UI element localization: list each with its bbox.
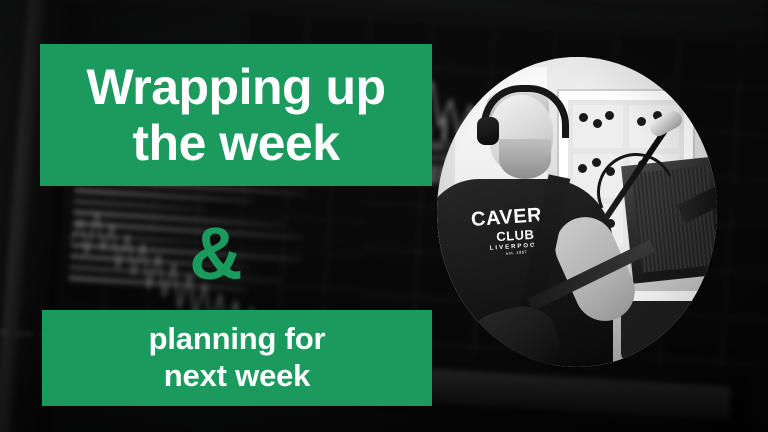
photo-shading	[437, 57, 717, 367]
subhead-line-2: next week	[164, 360, 310, 393]
headline-banner-bottom: planning for next week	[42, 310, 432, 406]
axis-tick: 22:10	[16, 331, 32, 338]
headline-line-1: Wrapping up	[86, 62, 385, 112]
axis-tick: 22:00	[0, 330, 7, 337]
ampersand-symbol: &	[178, 212, 254, 296]
video-thumbnail: EURUSD - 1,35379 - 00:00:00 14 giu (EEST…	[0, 0, 768, 432]
headline-line-2: the week	[132, 118, 339, 168]
musician-photo-circle: CAVERN CLUB LIVERPOOL est. 1957	[437, 57, 717, 367]
subhead-line-1: planning for	[149, 323, 326, 356]
headline-banner-top: Wrapping up the week	[40, 44, 432, 186]
